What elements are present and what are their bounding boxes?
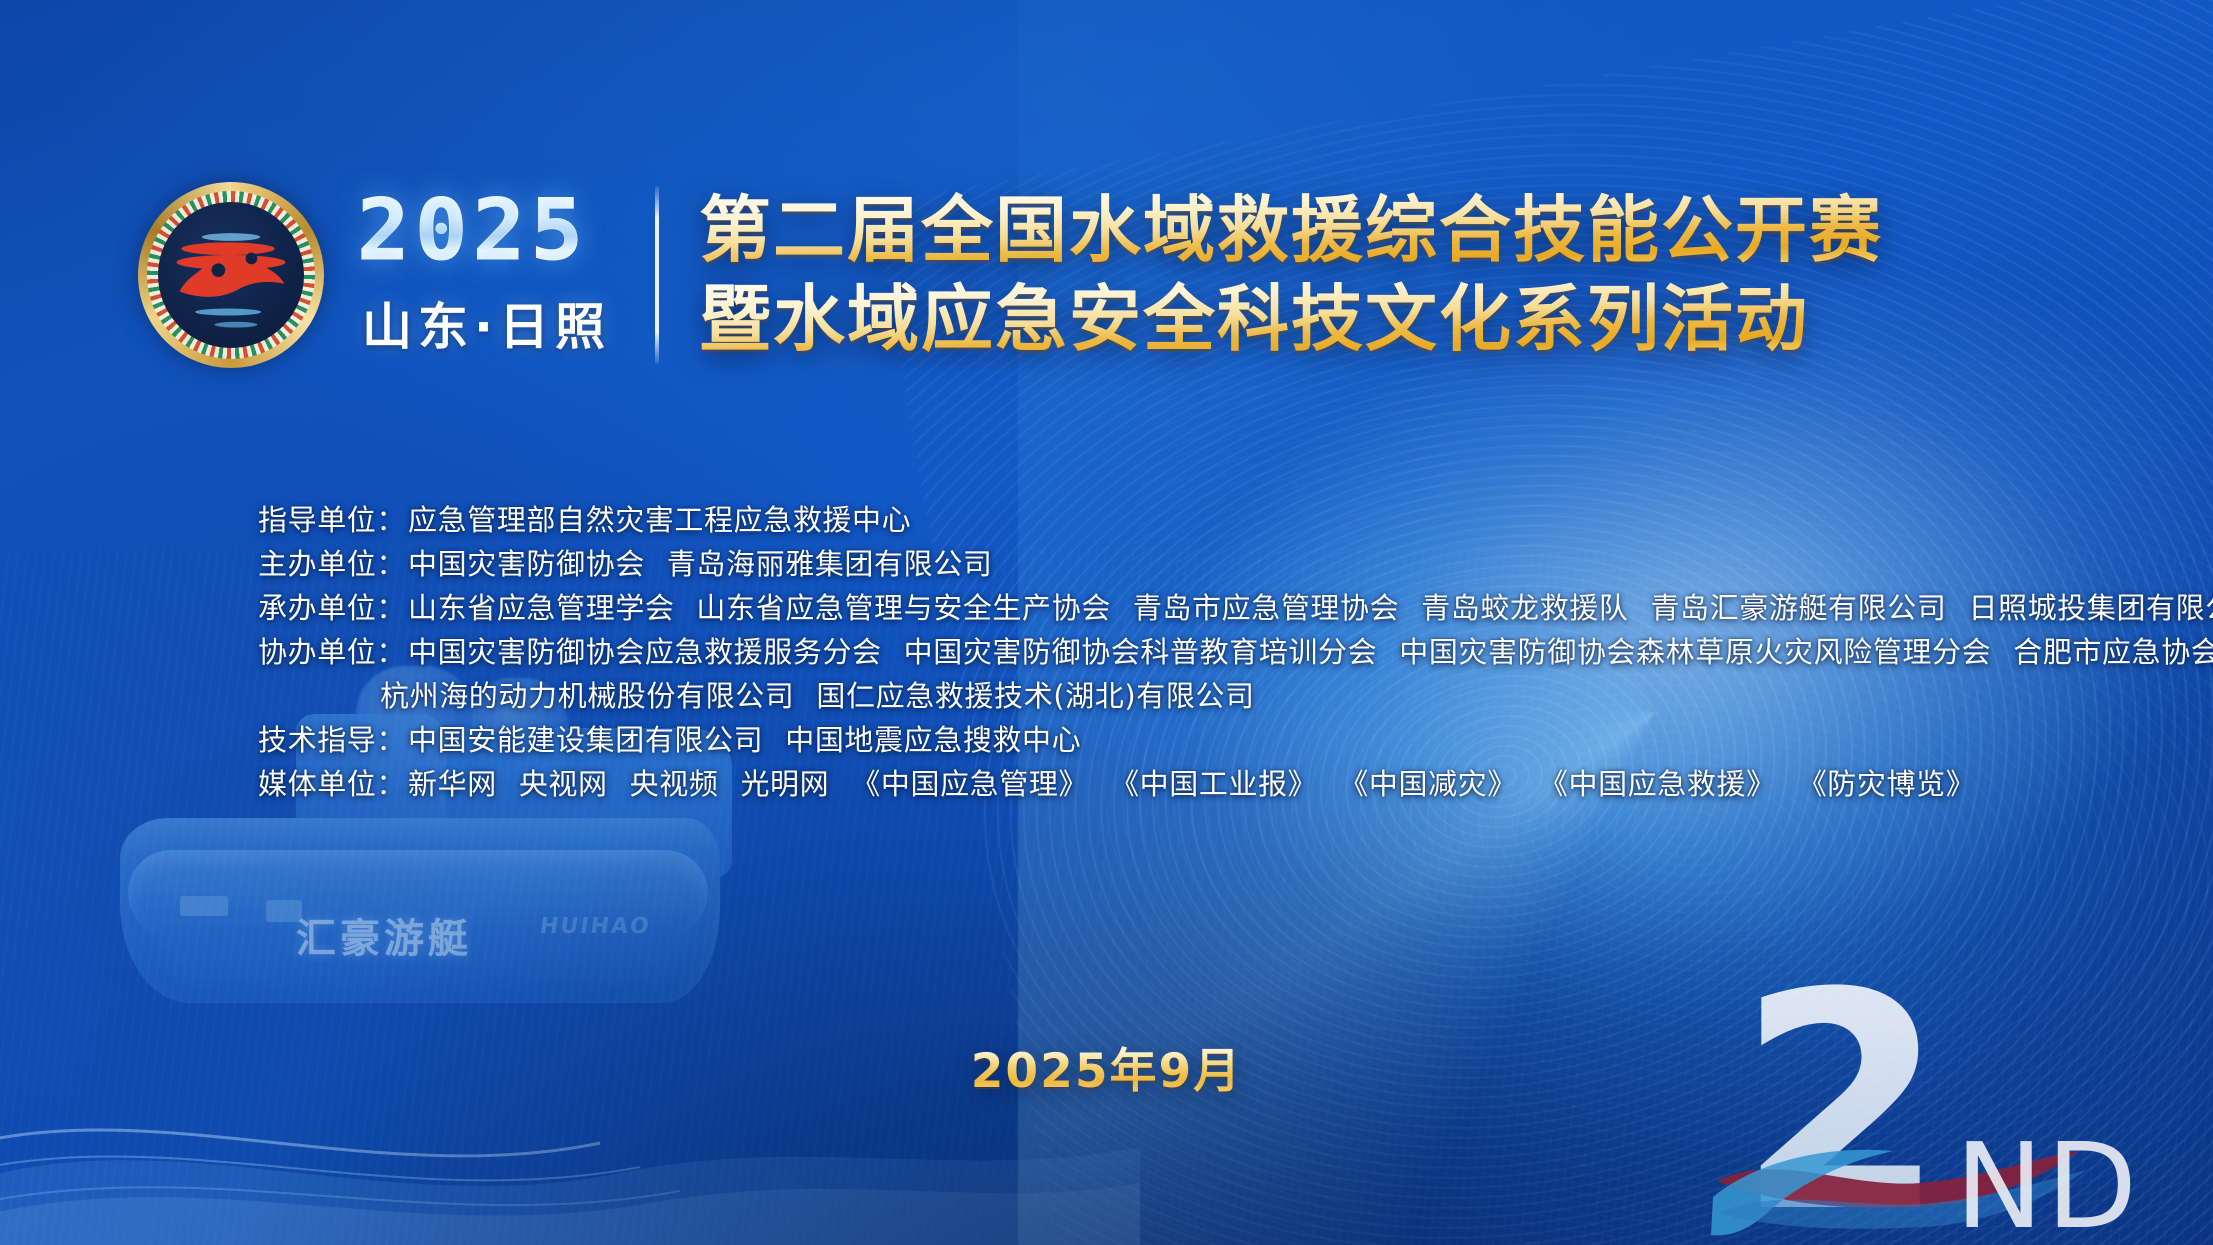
credit-entry: 青岛市应急管理协会 bbox=[1133, 591, 1399, 625]
event-title-line-2: 暨水域应急安全科技文化系列活动 bbox=[699, 279, 1883, 360]
event-year-city-block: 2025 山东·日照 bbox=[362, 187, 611, 363]
credit-row: 协办单位：中国灾害防御协会应急救援服务分会中国灾害防御协会科普教育培训分会中国灾… bbox=[258, 630, 2213, 674]
credit-entry: 新华网 bbox=[408, 767, 497, 801]
credit-row: 技术指导：中国安能建设集团有限公司中国地震应急搜救中心 bbox=[258, 718, 2213, 762]
event-title-block: 第二届全国水域救援综合技能公开赛 暨水域应急安全科技文化系列活动 bbox=[699, 190, 1883, 359]
credit-entry: 《中国应急管理》 bbox=[851, 767, 1088, 801]
credit-entry: 光明网 bbox=[740, 767, 829, 801]
emblem-artwork bbox=[158, 202, 304, 348]
credit-entry: 中国灾害防御协会森林草原火灾风险管理分会 bbox=[1399, 635, 1991, 669]
credit-row-label: 指导单位： bbox=[258, 503, 406, 537]
event-title-line-1: 第二届全国水域救援综合技能公开赛 bbox=[699, 190, 1883, 271]
second-edition-watermark-art: 2 ND bbox=[1707, 945, 2177, 1245]
credit-entry: 山东省应急管理与安全生产协会 bbox=[696, 591, 1110, 625]
header-divider bbox=[655, 186, 659, 364]
credit-row: 媒体单位：新华网央视网央视频光明网《中国应急管理》《中国工业报》《中国减灾》《中… bbox=[258, 762, 2213, 806]
credit-row: 主办单位：中国灾害防御协会青岛海丽雅集团有限公司 bbox=[258, 542, 2213, 586]
credit-entry: 山东省应急管理学会 bbox=[408, 591, 674, 625]
credit-entry: 青岛蛟龙救援队 bbox=[1421, 591, 1628, 625]
event-year: 2025 bbox=[357, 191, 616, 271]
water-rescue-emblem-icon bbox=[138, 182, 324, 368]
emblem-inner-disc bbox=[158, 202, 304, 348]
second-edition-watermark: 2 ND bbox=[1707, 945, 2177, 1245]
credit-entry: 中国灾害防御协会科普教育培训分会 bbox=[904, 635, 1378, 669]
credit-entry: 合肥市应急协会 bbox=[2013, 635, 2213, 669]
credit-row: 指导单位：应急管理部自然灾害工程应急救援中心 bbox=[258, 498, 2213, 542]
credit-entry: 《中国工业报》 bbox=[1110, 767, 1317, 801]
credit-entry: 《中国减灾》 bbox=[1339, 767, 1517, 801]
credit-row-label: 技术指导： bbox=[258, 723, 406, 757]
credit-entry: 青岛海丽雅集团有限公司 bbox=[667, 547, 993, 581]
boat-brand-secondary-text: HUIHAO bbox=[538, 914, 652, 939]
credit-row-label: 协办单位： bbox=[258, 635, 406, 669]
credit-entry: 《防灾博览》 bbox=[1798, 767, 1976, 801]
credit-row-label: 承办单位： bbox=[258, 591, 406, 625]
credit-entry: 中国安能建设集团有限公司 bbox=[408, 723, 763, 757]
credit-entry: 国仁应急救援技术(湖北)有限公司 bbox=[816, 679, 1254, 713]
credit-row: 承办单位：山东省应急管理学会山东省应急管理与安全生产协会青岛市应急管理协会青岛蛟… bbox=[258, 586, 2213, 630]
organizer-credits-block: 指导单位：应急管理部自然灾害工程应急救援中心主办单位：中国灾害防御协会青岛海丽雅… bbox=[258, 498, 2213, 806]
credit-row-label: 主办单位： bbox=[258, 547, 406, 581]
poster-canvas: 汇豪游艇 HUIHAO bbox=[0, 0, 2213, 1245]
boat-brand-text: 汇豪游艇 bbox=[296, 906, 472, 964]
credit-entry: 中国灾害防御协会应急救援服务分会 bbox=[408, 635, 882, 669]
boat-decal-left bbox=[180, 896, 228, 916]
poster-header: 2025 山东·日照 第二届全国水域救援综合技能公开赛 暨水域应急安全科技文化系… bbox=[0, 150, 2213, 400]
credit-entry: 中国地震应急搜救中心 bbox=[785, 723, 1081, 757]
event-city: 山东·日照 bbox=[362, 287, 611, 359]
credit-entry: 应急管理部自然灾害工程应急救援中心 bbox=[408, 503, 911, 537]
credit-entry: 青岛汇豪游艇有限公司 bbox=[1650, 591, 1946, 625]
credit-entry: 中国灾害防御协会 bbox=[408, 547, 645, 581]
credit-row: 杭州海的动力机械股份有限公司国仁应急救援技术(湖北)有限公司 bbox=[258, 674, 2213, 718]
credit-entry: 日照城投集团有限公司 bbox=[1968, 591, 2213, 625]
credit-entry: 杭州海的动力机械股份有限公司 bbox=[380, 679, 794, 713]
credit-row-label: 媒体单位： bbox=[258, 767, 406, 801]
credit-entry: 央视频 bbox=[630, 767, 719, 801]
credit-entry: 央视网 bbox=[519, 767, 608, 801]
credit-entry: 《中国应急救援》 bbox=[1539, 767, 1776, 801]
svg-text:ND: ND bbox=[1955, 1117, 2140, 1245]
